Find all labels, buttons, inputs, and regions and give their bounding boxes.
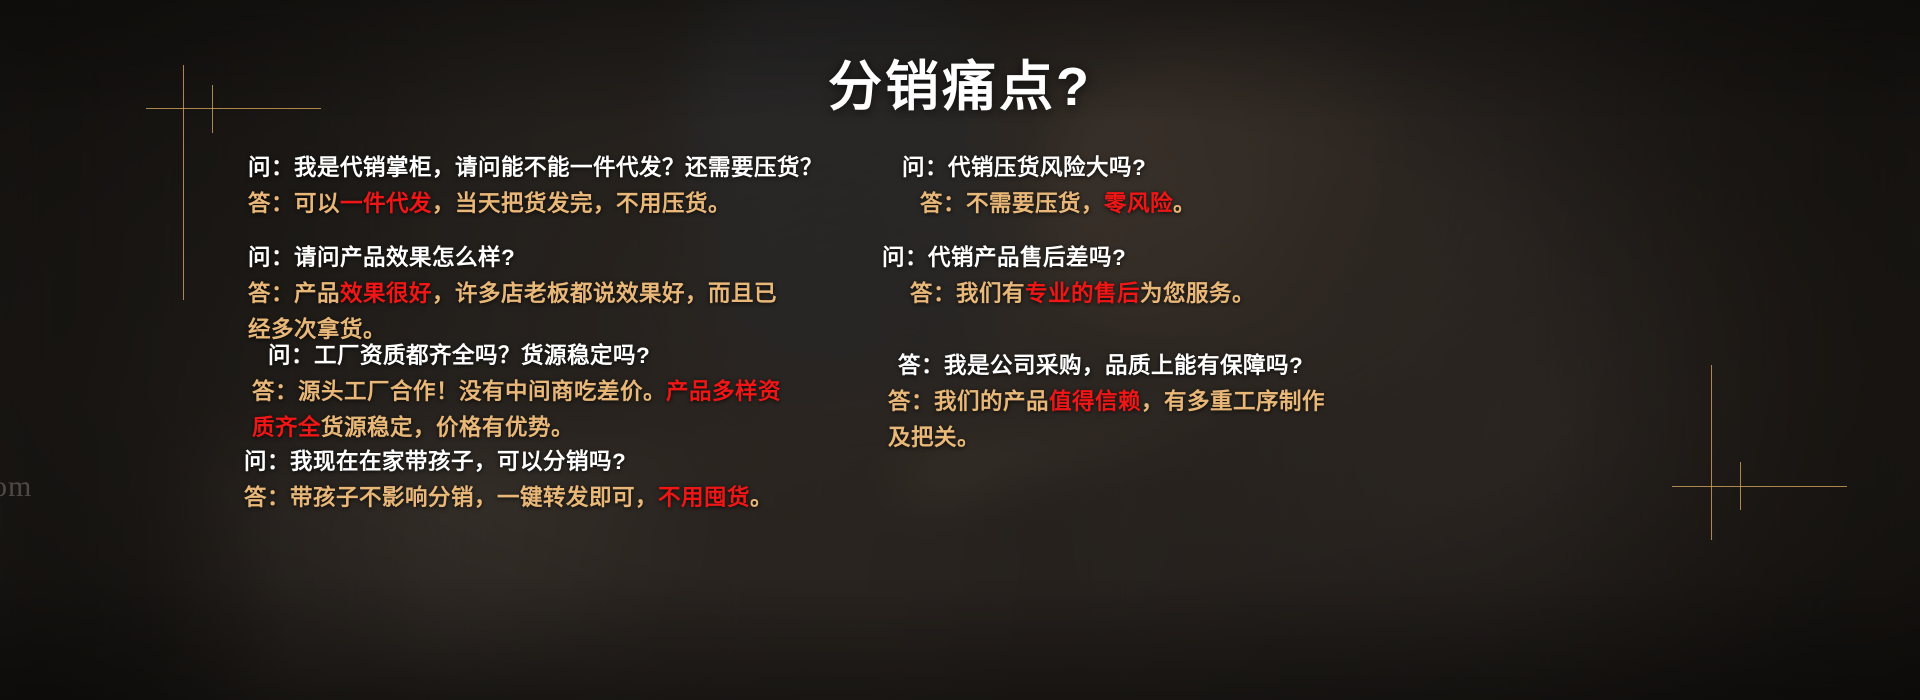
question-text: 问：工厂资质都齐全吗？货源稳定吗? (252, 338, 802, 374)
qa-block-company-purchase-quality: 答：我是公司采购，品质上能有保障吗? 答：我们的产品值得信赖，有多重工序制作及把… (888, 348, 1338, 456)
question-text: 答：我是公司采购，品质上能有保障吗? (888, 348, 1338, 384)
answer-highlight: 效果很好 (340, 281, 432, 306)
watermark-text: om (0, 470, 32, 504)
answer-plain: 答：我们的产品 (888, 389, 1049, 414)
answer-plain: 答：产品 (248, 281, 340, 306)
answer-plain: 答：不需要压货， (920, 191, 1104, 216)
answer-text: 答：我们有专业的售后为您服务。 (882, 276, 1255, 312)
answer-plain: 货源稳定，价格有优势。 (321, 415, 574, 440)
qa-block-factory-qualification: 问：工厂资质都齐全吗？货源稳定吗? 答：源头工厂合作！没有中间商吃差价。产品多样… (252, 338, 802, 446)
answer-plain: 。 (1173, 191, 1196, 216)
answer-highlight: 值得信赖 (1049, 389, 1141, 414)
answer-plain: 答：我们有 (910, 281, 1025, 306)
answer-text: 答：可以一件代发，当天把货发完，不用压货。 (248, 186, 823, 222)
ornament-line-right-vertical-long (1711, 365, 1712, 540)
answer-highlight: 专业的售后 (1025, 281, 1140, 306)
ornament-line-right-horizontal (1672, 486, 1847, 487)
ornament-line-right-vertical-short (1740, 462, 1741, 510)
question-text: 问：代销产品售后差吗? (882, 240, 1255, 276)
answer-plain: 答：源头工厂合作！没有中间商吃差价。 (252, 379, 666, 404)
answer-text: 答：我们的产品值得信赖，有多重工序制作及把关。 (888, 384, 1338, 456)
answer-text: 答：不需要压货，零风险。 (888, 186, 1196, 222)
qa-block-product-effect: 问：请问产品效果怎么样? 答：产品效果很好，许多店老板都说效果好，而且已经多次拿… (248, 240, 793, 348)
page-title: 分销痛点? (0, 42, 1920, 121)
answer-text: 答：源头工厂合作！没有中间商吃差价。产品多样资质齐全货源稳定，价格有优势。 (252, 374, 802, 446)
qa-block-one-piece-dropship: 问：我是代销掌柜，请问能不能一件代发？还需要压货？ 答：可以一件代发，当天把货发… (248, 150, 823, 222)
answer-plain: 。 (750, 485, 773, 510)
qa-block-after-sales: 问：代销产品售后差吗? 答：我们有专业的售后为您服务。 (882, 240, 1255, 312)
question-text: 问：我现在在家带孩子，可以分销吗? (244, 444, 773, 480)
slide-canvas: om 分销痛点? 问：我是代销掌柜，请问能不能一件代发？还需要压货？ 答：可以一… (0, 0, 1920, 700)
answer-plain: 为您服务。 (1140, 281, 1255, 306)
qa-block-stock-risk: 问：代销压货风险大吗? 答：不需要压货，零风险。 (888, 150, 1196, 222)
question-text: 问：我是代销掌柜，请问能不能一件代发？还需要压货？ (248, 150, 823, 186)
answer-highlight: 不用囤货 (658, 485, 750, 510)
question-text: 问：请问产品效果怎么样? (248, 240, 793, 276)
question-text: 问：代销压货风险大吗? (888, 150, 1196, 186)
answer-plain: ，当天把货发完，不用压货。 (432, 191, 731, 216)
answer-highlight: 零风险 (1104, 191, 1173, 216)
answer-plain: 答：可以 (248, 191, 340, 216)
answer-text: 答：带孩子不影响分销，一键转发即可，不用囤货。 (244, 480, 773, 516)
answer-plain: 答：带孩子不影响分销，一键转发即可， (244, 485, 658, 510)
answer-highlight: 一件代发 (340, 191, 432, 216)
qa-block-stay-home-parent: 问：我现在在家带孩子，可以分销吗? 答：带孩子不影响分销，一键转发即可，不用囤货… (244, 444, 773, 516)
